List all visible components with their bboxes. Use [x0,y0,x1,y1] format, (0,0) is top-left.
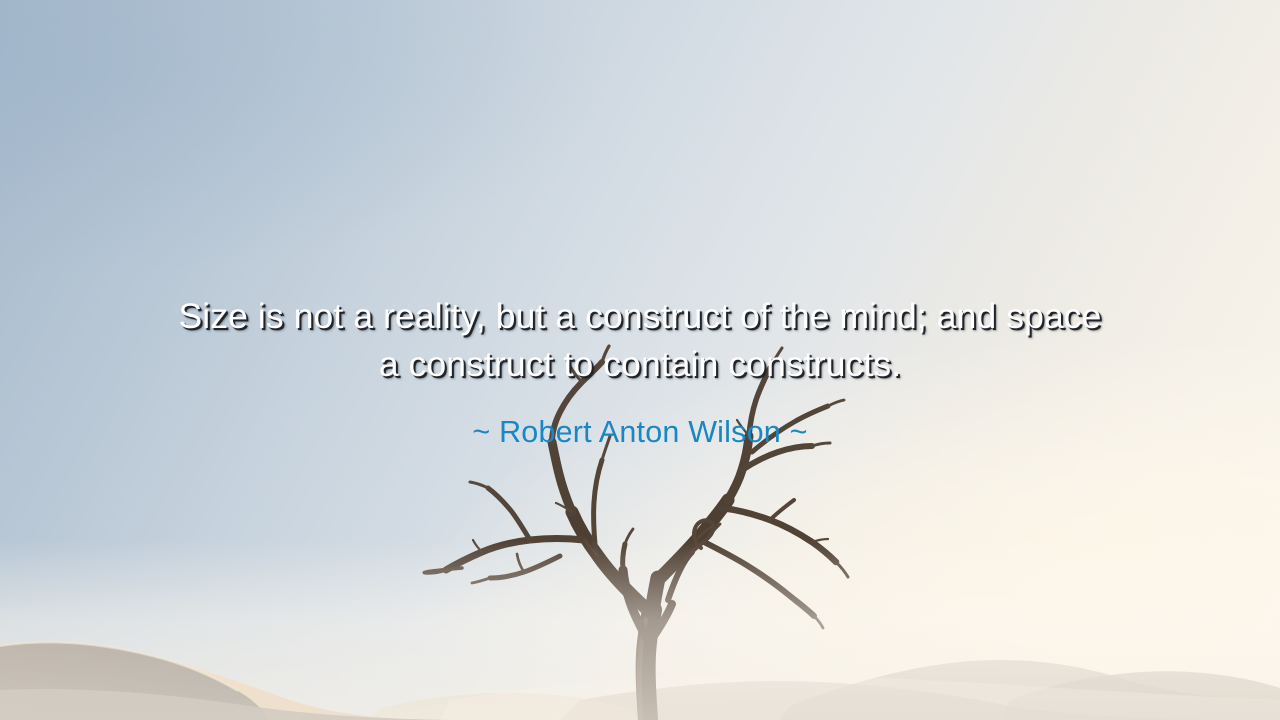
tree-limb-left-upper [552,442,572,512]
ground-haze [0,540,1280,720]
quote-wallpaper-scene: Size is not a reality, but a construct o… [0,0,1280,720]
quote-text: Size is not a reality, but a construct o… [90,292,1190,388]
tree-twig-left-far-upper-tip [470,482,488,488]
quote-overlay: Size is not a reality, but a construct o… [0,0,1280,451]
tree-branch-left-far-upper [488,488,530,540]
quote-attribution: ~ Robert Anton Wilson ~ [472,413,807,451]
tree-branch-right-far-b [770,500,794,520]
